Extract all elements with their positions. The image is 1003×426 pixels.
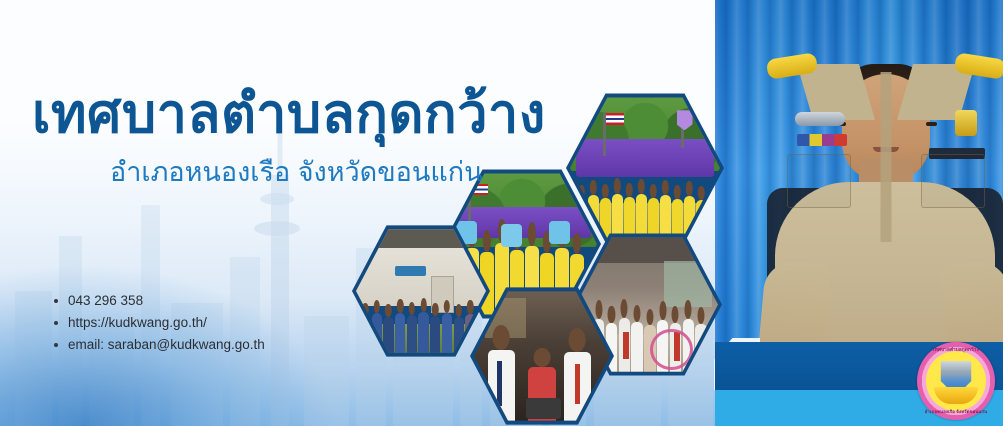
- banner-root: เทศบาลตำบลกุดกว้าง อำเภอหนองเรือ จังหวัด…: [0, 0, 1003, 426]
- contact-email[interactable]: email: saraban@kudkwang.go.th: [52, 334, 265, 356]
- contact-phone[interactable]: 043 296 358: [52, 290, 265, 312]
- contact-list: 043 296 358 https://kudkwang.go.th/ emai…: [52, 290, 265, 356]
- contact-website[interactable]: https://kudkwang.go.th/: [52, 312, 265, 334]
- page-subtitle: อำเภอหนองเรือ จังหวัดขอนแก่น: [110, 158, 483, 188]
- seal-bottom-text: อำเภอหนองเรือ จังหวัดขอนแก่น: [917, 408, 995, 415]
- photo-collage: [0, 0, 1003, 426]
- municipality-seal[interactable]: เทศบาลตำบลกุดกว้าง อำเภอหนองเรือ จังหวัด…: [917, 342, 995, 420]
- photo-ceremony-yellow-shirts-top[interactable]: [566, 92, 724, 244]
- seal-top-text: เทศบาลตำบลกุดกว้าง: [917, 347, 995, 354]
- page-title: เทศบาลตำบลกุดกว้าง: [32, 86, 546, 143]
